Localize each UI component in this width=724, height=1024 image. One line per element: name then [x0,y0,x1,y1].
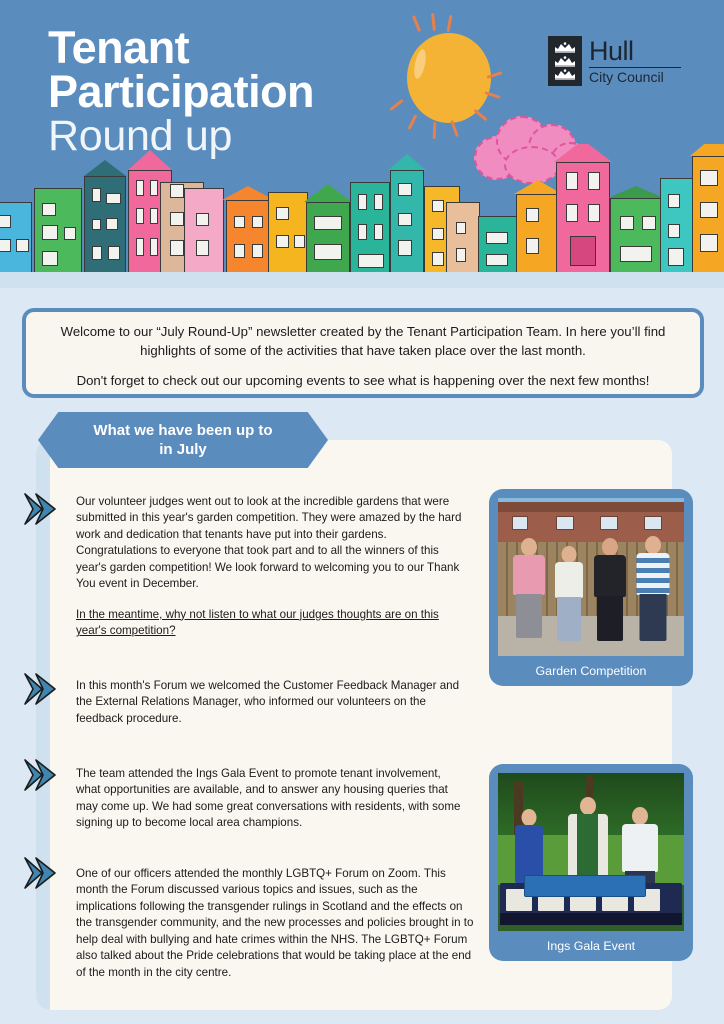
section-banner-line-1: What we have been up to [93,421,272,440]
three-crowns-icon [548,36,582,86]
title-line-2: Participation [48,70,314,114]
title-line-1: Tenant [48,26,314,70]
chevron-arrow-icon [22,492,64,526]
newsletter-page: Tenant Participation Round up [0,0,724,1024]
photo-garden-competition [498,498,684,656]
photo-card[interactable]: Ings Gala Event [489,764,693,961]
header-banner: Tenant Participation Round up [0,0,724,288]
logo-subtitle: City Council [589,70,681,84]
chevron-arrow-icon [22,856,64,890]
houses-illustration [0,144,724,274]
welcome-paragraph-2: Don't forget to check out our upcoming e… [50,372,676,391]
hull-city-council-logo: Hull City Council [548,36,681,86]
list-item-text: Our volunteer judges went out to look at… [76,494,462,640]
list-item-body: One of our officers attended the monthly… [76,867,473,979]
list-item-body: Our volunteer judges went out to look at… [76,495,461,590]
page-title: Tenant Participation Round up [48,26,314,159]
scallop-edge [0,272,724,288]
list-item-text: The team attended the Ings Gala Event to… [76,766,468,832]
logo-name: Hull [589,38,681,65]
list-item-text: In this month's Forum we welcomed the Cu… [76,678,468,727]
chevron-arrow-icon [22,758,64,792]
list-item-text: One of our officers attended the monthly… [76,866,478,981]
photo-caption: Garden Competition [498,656,684,686]
chevron-arrow-icon [22,672,64,706]
welcome-box: Welcome to our “July Round-Up” newslette… [22,308,704,398]
photo-ings-gala-event [498,773,684,931]
list-item-link[interactable]: In the meantime, why not listen to what … [76,607,462,640]
title-line-3: Round up [48,115,314,159]
section-banner-line-2: in July [159,440,207,459]
photo-card[interactable]: Garden Competition [489,489,693,686]
photo-caption: Ings Gala Event [498,931,684,961]
section-banner: What we have been up to in July [38,412,328,468]
list-item-body: In this month's Forum we welcomed the Cu… [76,679,459,725]
welcome-paragraph-1: Welcome to our “July Round-Up” newslette… [50,323,676,360]
list-item-body: The team attended the Ings Gala Event to… [76,767,461,829]
